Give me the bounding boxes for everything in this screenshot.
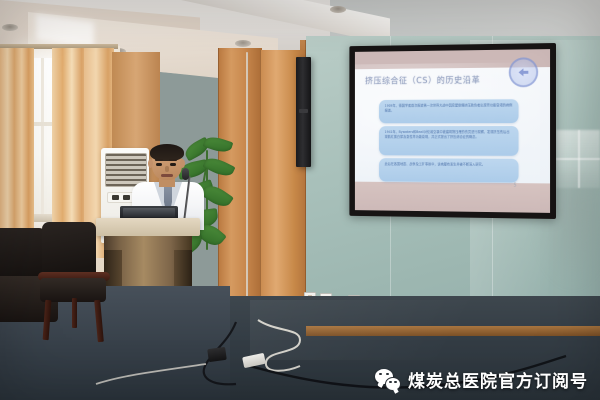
watermark-text: 煤炭总医院官方订阅号 <box>408 367 588 392</box>
eyebrow <box>155 159 163 161</box>
slide-bullet-box: 1909年，德国学者首次报道第一次世界大战中因房屋倒塌挤压致伤者出现肾功能衰竭的… <box>379 99 518 123</box>
speaker-badge <box>299 109 308 113</box>
wechat-icon <box>375 369 401 391</box>
recessed-downlight <box>2 24 18 31</box>
power-adapter <box>207 347 227 362</box>
nose <box>165 166 169 172</box>
slide-page-number: 5 <box>513 183 516 189</box>
slide-bullet-box: 1941年，Bywaters和Beall对伦敦空袭中被建筑物压埋的伤员进行观察，… <box>379 126 518 156</box>
eye <box>156 163 162 166</box>
recessed-downlight <box>330 6 346 13</box>
mouth <box>161 174 173 177</box>
microphone-capsule <box>182 168 189 180</box>
hospital-circular-logo <box>509 57 538 87</box>
reflection-mullion <box>556 158 600 160</box>
window-mullion <box>41 58 44 218</box>
photo-scene: 挤压综合征（CS）的历史沿革 1909年，德国学者首次报道第一次世界大战中因房屋… <box>0 0 600 400</box>
eyebrow <box>169 159 177 161</box>
ear <box>180 159 185 168</box>
recessed-downlight <box>235 40 251 47</box>
slide-bullet-box: 此后在各国地震、战争及工矿事故中，该病屡有发生并被不断深入研究。 <box>379 158 518 183</box>
projection-screen[interactable]: 挤压综合征（CS）的历史沿革 1909年，德国学者首次报道第一次世界大战中因房屋… <box>349 43 556 219</box>
projected-slide: 挤压综合征（CS）的历史沿革 1909年，德国学者首次报道第一次世界大战中因房屋… <box>355 49 550 213</box>
slide-bullet-text: 1941年，Bywaters和Beall对伦敦空袭中被建筑物压埋的伤员进行观察，… <box>385 130 513 140</box>
column-loudspeaker <box>296 57 311 167</box>
eye <box>170 163 176 166</box>
slide-title: 挤压综合征（CS）的历史沿革 <box>365 73 508 86</box>
slide-bullet-text: 此后在各国地震、战争及工矿事故中，该病屡有发生并被不断深入研究。 <box>385 162 513 168</box>
channel-watermark: 煤炭总医院官方订阅号 <box>375 367 588 392</box>
laptop-screen <box>123 208 175 217</box>
dark-leather-armchair[interactable] <box>36 222 132 352</box>
ear <box>148 159 153 168</box>
screen-surface: 挤压综合征（CS）的历史沿革 1909年，德国学者首次报道第一次世界大战中因房屋… <box>355 49 550 213</box>
slide-bullet-text: 1909年，德国学者首次报道第一次世界大战中因房屋倒塌挤压致伤者出现肾功能衰竭的… <box>385 103 513 114</box>
